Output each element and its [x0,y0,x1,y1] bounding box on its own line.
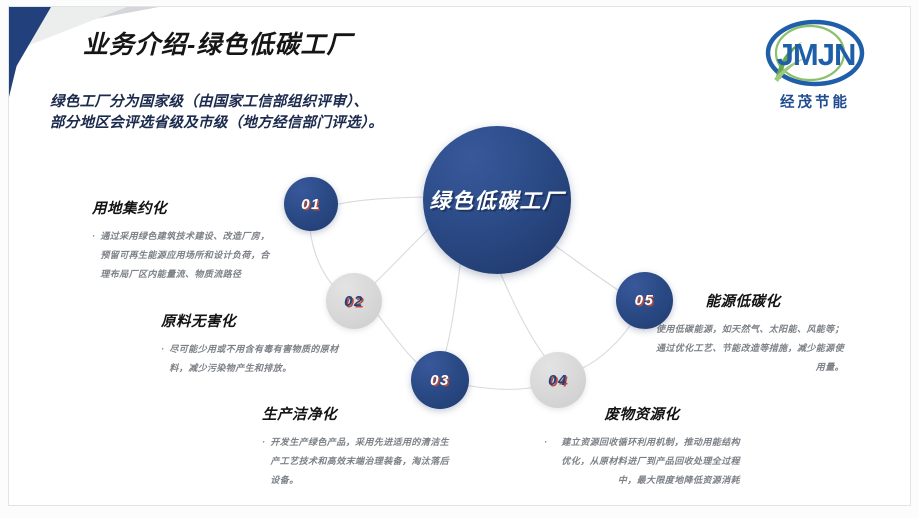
diagram-node-04[interactable]: 04 [530,352,586,408]
diagram-item-03-title: 生产洁净化 [262,403,458,424]
diagram-item-02-title: 原料无害化 [161,310,351,331]
diagram-node-01-number: 01 [301,196,321,213]
diagram-item-04-text: 建立资源回收循环利用机制，推动用能结构优化，从原材料进厂到产品回收处理全过程中，… [552,433,740,490]
diagram-item-04: 废物资源化 · 建立资源回收循环利用机制，推动用能结构优化，从原材料进厂到产品回… [544,403,740,490]
diagram-item-02-text: 尽可能少用或不用含有毒有害物质的原材料，减少污染物产生和排放。 [169,340,351,378]
diagram-item-01-title: 用地集约化 [92,197,274,218]
diagram-node-04-number: 04 [548,372,568,389]
bullet-icon: · [161,340,164,378]
diagram-item-03-text: 开发生产绿色产品，采用先进适用的清洁生产工艺技术和高效末端治理装备，淘汰落后设备… [270,433,458,490]
diagram-center-node[interactable]: 绿色低碳工厂 [423,126,571,274]
process-diagram: 绿色低碳工厂 01 02 03 04 05 用地 [9,7,911,506]
bullet-icon: · [92,227,95,284]
diagram-item-03: 生产洁净化 · 开发生产绿色产品，采用先进适用的清洁生产工艺技术和高效末端治理装… [262,403,458,490]
bullet-icon: · [544,433,547,490]
bullet-icon: · [262,433,265,490]
slide-card: 业务介绍-绿色低碳工厂 绿色工厂分为国家级（由国家工信部组织评审）、 部分地区会… [8,6,911,506]
diagram-item-01: 用地集约化 · 通过采用绿色建筑技术建设、改造厂房，预留可再生能源应用场所和设计… [92,197,274,284]
slide-canvas: 业务介绍-绿色低碳工厂 绿色工厂分为国家级（由国家工信部组织评审）、 部分地区会… [0,0,919,518]
diagram-item-02: 原料无害化 · 尽可能少用或不用含有毒有害物质的原材料，减少污染物产生和排放。 [161,310,351,378]
diagram-item-05-title: 能源低碳化 [642,290,844,311]
diagram-node-02-number: 02 [344,293,364,310]
diagram-item-05: 能源低碳化 · 使用低碳能源，如天然气、太阳能、风能等；通过优化工艺、节能改造等… [642,290,844,377]
diagram-item-05-text: 使用低碳能源，如天然气、太阳能、风能等；通过优化工艺、节能改造等措施，减少能源使… [650,320,844,377]
diagram-node-01[interactable]: 01 [284,177,338,231]
bullet-icon: · [642,320,645,377]
diagram-item-01-text: 通过采用绿色建筑技术建设、改造厂房，预留可再生能源应用场所和设计负荷，合理布局厂… [100,227,274,284]
diagram-node-03[interactable]: 03 [411,351,469,409]
diagram-node-03-number: 03 [430,372,450,389]
diagram-center-label: 绿色低碳工厂 [430,185,565,215]
diagram-item-04-title: 废物资源化 [544,403,740,424]
